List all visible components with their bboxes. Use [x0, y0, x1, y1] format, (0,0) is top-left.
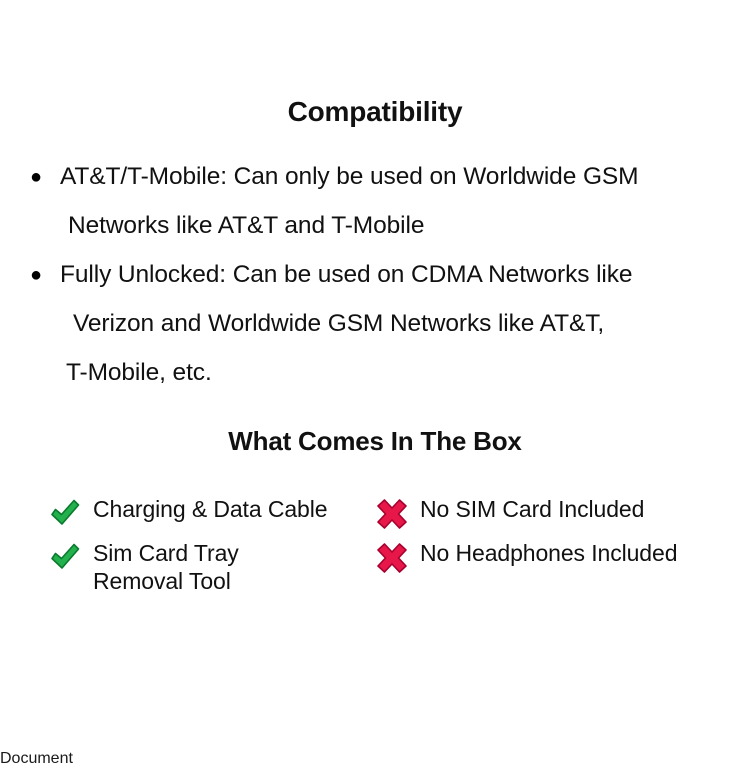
list-item: ● AT&T/T-Mobile: Can only be used on Wor… [0, 160, 750, 258]
list-item: ● Fully Unlocked: Can be used on CDMA Ne… [0, 258, 750, 405]
excluded-item-label: No Headphones Included [409, 539, 677, 567]
excluded-items-column: No SIM Card Included No Headphones Inclu… [375, 495, 725, 583]
included-item-label: Sim Card Tray Removal Tool [82, 539, 239, 595]
bullet-line: ● Fully Unlocked: Can be used on CDMA Ne… [0, 258, 750, 307]
green-check-icon [48, 497, 82, 531]
list-item: Charging & Data Cable [48, 495, 388, 539]
bullet-lead-text: Fully Unlocked: Can be used on CDMA Netw… [60, 258, 632, 292]
bullet-lead-text: AT&T/T-Mobile: Can only be used on World… [60, 160, 638, 194]
list-item: Sim Card Tray Removal Tool [48, 539, 388, 595]
excluded-item-label: No SIM Card Included [409, 495, 644, 523]
bullet-continuation-text: Verizon and Worldwide GSM Networks like … [0, 307, 750, 356]
list-item: No Headphones Included [375, 539, 725, 583]
red-cross-icon [375, 497, 409, 531]
box-contents-heading: What Comes In The Box [0, 426, 750, 457]
included-item-label: Charging & Data Cable [82, 495, 327, 523]
product-info-panel: Compatibility ● AT&T/T-Mobile: Can only … [0, 0, 750, 750]
red-cross-icon [375, 541, 409, 575]
bullet-dot-icon: ● [30, 258, 60, 292]
bullet-dot-icon: ● [30, 160, 60, 194]
compatibility-heading: Compatibility [0, 96, 750, 128]
bullet-line: ● AT&T/T-Mobile: Can only be used on Wor… [0, 160, 750, 209]
bullet-continuation-text: Networks like AT&T and T-Mobile [0, 209, 750, 258]
compatibility-list: ● AT&T/T-Mobile: Can only be used on Wor… [0, 160, 750, 405]
bullet-continuation-text: T-Mobile, etc. [0, 356, 750, 405]
included-items-column: Charging & Data Cable Sim Card Tray Remo… [24, 495, 388, 595]
list-item: No SIM Card Included [375, 495, 725, 539]
green-check-icon [48, 541, 82, 575]
